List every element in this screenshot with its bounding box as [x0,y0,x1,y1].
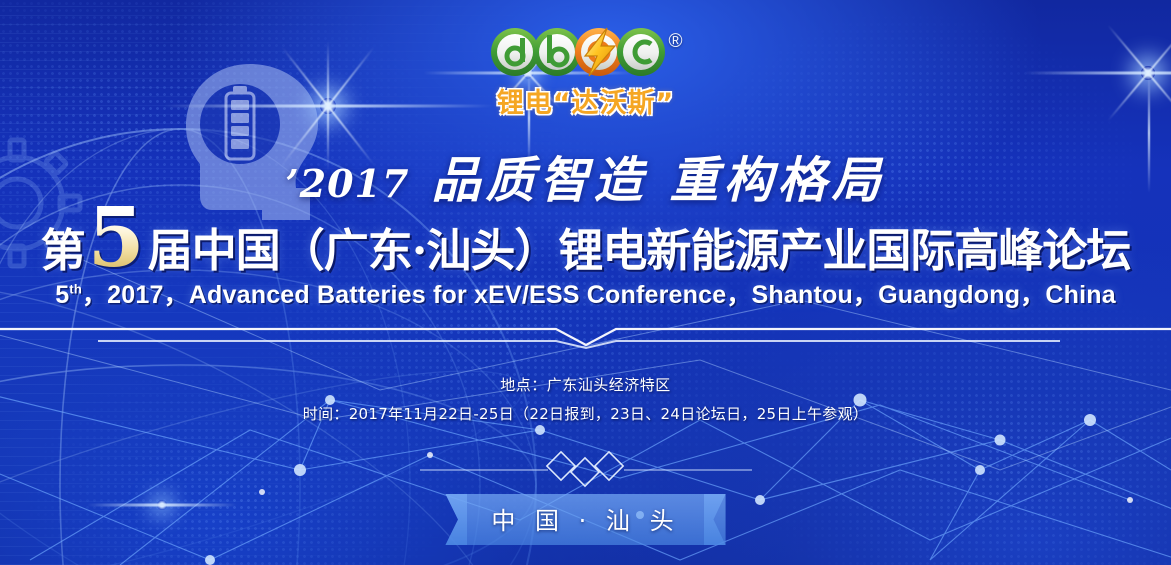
abec-logo: ® 锂电“达沃斯” [0,26,1171,120]
slogan-text: 品质智造 重构格局 [432,151,886,209]
slogan-year: ’2017 [285,161,409,206]
abec-wordmark-icon [489,26,665,78]
conference-banner: ® 锂电“达沃斯” ’2017 品质智造 重构格局 第 5 届中国（广东·汕头）… [0,0,1171,565]
headline-edition-number: 5 [85,206,148,272]
datetime-line: 时间：2017年11月22日-25日（22日报到，23日、24日论坛日，25日上… [0,403,1171,424]
headline-prefix: 第 [41,214,85,279]
english-subtitle: 5th，2017，Advanced Batteries for xEV/ESS … [0,275,1171,311]
subtitle-ordinal: 5 [55,281,69,309]
ribbon-location-text: 中 国 · 汕 头 [491,507,679,535]
subtitle-rest: ，2017，Advanced Batteries for xEV/ESS Con… [82,281,1116,309]
location-ribbon: 中 国 · 汕 头 [0,494,1171,545]
venue-line: 地点：广东汕头经济特区 [0,374,1171,395]
slogan: ’2017 品质智造 重构格局 [0,141,1171,212]
headline-suffix: 届中国（广东·汕头）锂电新能源产业国际高峰论坛 [148,214,1131,279]
logo-chinese-tagline: 锂电“达沃斯” [497,81,675,120]
registered-mark: ® [669,32,683,51]
divider-rule [0,318,1171,352]
page-title: 第 5 届中国（广东·汕头）锂电新能源产业国际高峰论坛 [0,206,1171,279]
subtitle-ordinal-suffix: th [69,282,82,297]
diamond-ornament-icon [0,450,1171,490]
